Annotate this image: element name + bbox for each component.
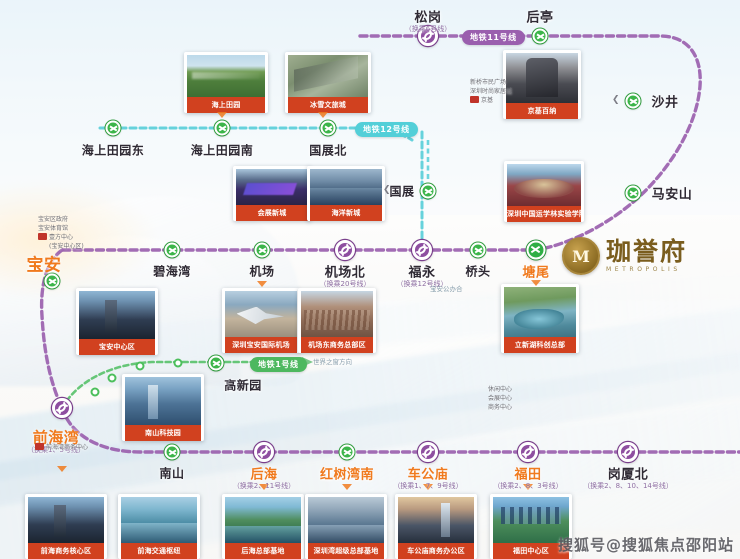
photo-caption: 前海交通枢纽 xyxy=(121,543,197,559)
photo-card[interactable]: 宝安中心区 xyxy=(76,288,158,355)
station-marker[interactable] xyxy=(45,274,60,289)
station-marker[interactable] xyxy=(618,442,638,462)
brand-name-cn: 珈誉府 xyxy=(606,239,687,265)
photo-thumbnail xyxy=(225,497,301,543)
transit-map-infographic: 海上田园冰雪文旅城京基百纳会展新城海洋新城深圳中国运学林实验学院宝安中心区深圳宝… xyxy=(0,0,740,559)
station-marker[interactable] xyxy=(209,356,224,371)
station-marker[interactable] xyxy=(421,184,436,199)
photo-thumbnail xyxy=(504,287,576,337)
station-label[interactable]: 宝安 xyxy=(27,251,62,276)
photo-caption: 会展新城 xyxy=(236,205,308,221)
photo-caption: 前海商务核心区 xyxy=(28,543,104,559)
photo-caption: 海上田园 xyxy=(187,97,265,113)
flag-icon xyxy=(38,233,47,240)
station-transfer-note: （换乘2、11号线） xyxy=(233,481,295,491)
line-1-minor-stop[interactable] xyxy=(174,359,183,368)
direction-note: 宝安公办合 xyxy=(430,283,463,293)
photo-thumbnail xyxy=(79,291,155,339)
photo-thumbnail xyxy=(225,291,297,337)
station-marker[interactable] xyxy=(626,186,641,201)
station-dot-icon xyxy=(255,243,270,258)
pointer-arrow-icon xyxy=(57,466,67,472)
photo-card[interactable]: 深圳湾超级总部基地 xyxy=(305,494,387,559)
station-marker[interactable] xyxy=(626,94,641,109)
station-dot-icon xyxy=(45,274,60,289)
station-marker[interactable] xyxy=(418,442,438,462)
photo-caption: 京基百纳 xyxy=(506,103,578,119)
station-label[interactable]: 红树湾南 xyxy=(320,464,374,483)
station-transfer-note: （换乘20号线） xyxy=(320,279,371,289)
station-label[interactable]: 沙井 xyxy=(651,92,678,111)
photo-card[interactable]: 后海总部基地 xyxy=(222,494,304,559)
station-label[interactable]: 福永 xyxy=(408,262,435,281)
photo-card[interactable]: 京基百纳 xyxy=(503,50,581,119)
station-dot-icon xyxy=(533,29,548,44)
station-transfer-note: （换乘2、8、3号线） xyxy=(493,481,562,491)
photo-card[interactable]: 机场东商务总部区 xyxy=(298,288,376,353)
photo-caption: 车公庙商务办公区 xyxy=(398,543,474,559)
flag-icon xyxy=(35,443,44,450)
station-label[interactable]: 海上田园南 xyxy=(191,142,254,159)
chevron-left-icon: ❮ xyxy=(612,95,620,105)
pointer-arrow-icon xyxy=(342,484,352,490)
brand-logo: M 珈誉府 METROPOLIS xyxy=(562,237,687,275)
station-dot-icon xyxy=(418,442,438,462)
station-label[interactable]: 南山 xyxy=(159,465,184,482)
station-dot-icon xyxy=(471,243,486,258)
photo-card[interactable]: 深圳中国运学林实验学院 xyxy=(504,161,584,222)
poi-line: 深圳时尚家居城 xyxy=(470,87,512,96)
poi-flagged-line: 京基 xyxy=(470,96,512,105)
pointer-arrow-icon xyxy=(318,112,328,118)
station-marker[interactable] xyxy=(340,445,355,460)
brand-name-en: METROPOLIS xyxy=(606,266,687,273)
station-dot-icon xyxy=(421,184,436,199)
photo-card[interactable]: 车公庙商务办公区 xyxy=(395,494,477,559)
station-marker[interactable] xyxy=(335,240,355,260)
photo-card[interactable]: 南山科技园 xyxy=(122,374,204,441)
station-dot-icon xyxy=(518,442,538,462)
line-tag[interactable]: 地铁1号线 xyxy=(250,357,307,372)
station-transfer-note: （换乘6号线） xyxy=(405,24,451,34)
poi-line: 商务中心 xyxy=(488,403,512,412)
station-marker[interactable] xyxy=(527,241,546,260)
station-marker[interactable] xyxy=(255,243,270,258)
station-label[interactable]: 后亭 xyxy=(526,7,553,26)
station-transfer-note: （换乘1、7、9号线） xyxy=(393,481,462,491)
station-label[interactable]: 国展北 xyxy=(309,142,347,159)
photo-card[interactable]: 冰雪文旅城 xyxy=(285,52,371,113)
poi-line: 会展中心 xyxy=(488,394,512,403)
photo-card[interactable]: 立新湖科创总部 xyxy=(501,284,579,353)
photo-thumbnail xyxy=(288,55,368,97)
photo-caption: 冰雪文旅城 xyxy=(288,97,368,113)
flag-icon xyxy=(470,96,479,103)
photo-caption: 海洋新城 xyxy=(310,205,382,221)
photo-thumbnail xyxy=(507,164,581,206)
photo-thumbnail xyxy=(28,497,104,543)
station-label[interactable]: 马安山 xyxy=(652,184,693,203)
poi-flagged-line: 壹方中心 xyxy=(38,233,84,242)
station-dot-icon xyxy=(321,121,336,136)
chevron-left-icon: ❮ xyxy=(383,185,391,195)
direction-note: 世界之窗方向 xyxy=(313,356,352,366)
watermark: 搜狐号@搜狐焦点邵阳站 xyxy=(558,534,734,555)
station-marker[interactable] xyxy=(412,240,432,260)
photo-caption: 后海总部基地 xyxy=(225,543,301,559)
station-label[interactable]: 后海 xyxy=(250,464,277,483)
photo-caption: 立新湖科创总部 xyxy=(504,337,576,353)
station-label[interactable]: 国展 xyxy=(389,183,414,200)
poi-flag-subtext: (宝安中心区) xyxy=(49,242,84,251)
poi-line: 休闲中心 xyxy=(488,385,512,394)
station-dot-icon xyxy=(626,94,641,109)
station-label[interactable]: 海上田园东 xyxy=(82,142,145,159)
station-dot-icon xyxy=(165,445,180,460)
brand-seal-glyph: M xyxy=(572,247,590,266)
station-label[interactable]: 塘尾 xyxy=(522,262,549,281)
poi-line: 宝安区政府 xyxy=(38,215,84,224)
photo-caption: 宝安中心区 xyxy=(79,339,155,355)
pointer-arrow-icon xyxy=(257,281,267,287)
photo-caption: 南山科技园 xyxy=(125,425,201,441)
photo-caption: 深圳中国运学林实验学院 xyxy=(507,206,581,222)
poi-flag-text: 壹方中心 xyxy=(49,234,73,241)
station-dot-icon xyxy=(165,243,180,258)
poi-flagged-line: 前海湾商务中心 xyxy=(35,443,88,452)
station-marker[interactable] xyxy=(321,121,336,136)
line-1-minor-stop[interactable] xyxy=(136,362,145,371)
photo-thumbnail xyxy=(398,497,474,543)
line-1-minor-stop[interactable] xyxy=(108,374,117,383)
photo-thumbnail xyxy=(121,497,197,543)
station-marker[interactable] xyxy=(471,243,486,258)
line-1-minor-stop[interactable] xyxy=(91,388,100,397)
line-tag[interactable]: 地铁12号线 xyxy=(355,122,418,137)
photo-thumbnail xyxy=(308,497,384,543)
station-dot-icon xyxy=(254,442,274,462)
station-marker[interactable] xyxy=(52,398,72,418)
station-dot-icon xyxy=(335,240,355,260)
photo-card[interactable]: 会展新城 xyxy=(233,166,311,221)
chevron-left-icon: ❮ xyxy=(225,379,233,389)
poi-flag-text: 前海湾商务中心 xyxy=(46,444,88,451)
station-dot-icon xyxy=(106,121,121,136)
station-label[interactable]: 车公庙 xyxy=(408,464,449,483)
station-marker[interactable] xyxy=(106,121,121,136)
photo-card[interactable]: 前海商务核心区 xyxy=(25,494,107,559)
station-marker[interactable] xyxy=(165,243,180,258)
pointer-arrow-icon xyxy=(217,112,227,118)
station-dot-icon xyxy=(215,121,230,136)
station-dot-icon xyxy=(527,241,546,260)
station-dot-icon xyxy=(209,356,224,371)
photo-thumbnail xyxy=(310,169,382,205)
station-dot-icon xyxy=(340,445,355,460)
poi-label-group: 休闲中心会展中心商务中心 xyxy=(488,385,512,412)
station-dot-icon xyxy=(52,398,72,418)
photo-card[interactable]: 海洋新城 xyxy=(307,166,385,221)
photo-caption: 深圳湾超级总部基地 xyxy=(308,543,384,559)
poi-flag-text: 京基 xyxy=(481,97,493,104)
poi-label-group: 宝安区政府宝安体育馆壹方中心(宝安中心区) xyxy=(38,215,84,251)
station-label[interactable]: 机场北 xyxy=(325,262,366,281)
station-marker[interactable] xyxy=(254,442,274,462)
photo-card[interactable]: 海上田园 xyxy=(184,52,268,113)
station-label[interactable]: 碧海湾 xyxy=(153,263,191,280)
poi-label-group: 前海湾商务中心 xyxy=(35,443,88,452)
photo-thumbnail xyxy=(301,291,373,337)
photo-card[interactable]: 深圳宝安国际机场 xyxy=(222,288,300,353)
station-label[interactable]: 福田 xyxy=(514,464,541,483)
station-transfer-note: （换乘2、8、10、14号线） xyxy=(583,481,673,491)
pointer-arrow-icon xyxy=(531,280,541,286)
station-dot-icon xyxy=(412,240,432,260)
station-label[interactable]: 桥头 xyxy=(465,263,490,280)
photo-thumbnail xyxy=(187,55,265,97)
station-marker[interactable] xyxy=(215,121,230,136)
poi-line: 新桥市民广场 xyxy=(470,78,512,87)
brand-seal-icon: M xyxy=(562,237,600,275)
line-tag[interactable]: 地铁11号线 xyxy=(462,30,525,45)
station-marker[interactable] xyxy=(518,442,538,462)
photo-card[interactable]: 前海交通枢纽 xyxy=(118,494,200,559)
poi-line: 宝安体育馆 xyxy=(38,224,84,233)
photo-caption: 机场东商务总部区 xyxy=(301,337,373,353)
station-label[interactable]: 岗厦北 xyxy=(608,464,649,483)
photo-caption: 深圳宝安国际机场 xyxy=(225,337,297,353)
station-dot-icon xyxy=(626,186,641,201)
photo-thumbnail xyxy=(236,169,308,205)
photo-thumbnail xyxy=(506,53,578,103)
station-marker[interactable] xyxy=(533,29,548,44)
station-label[interactable]: 机场 xyxy=(249,263,274,280)
station-marker[interactable] xyxy=(165,445,180,460)
station-dot-icon xyxy=(618,442,638,462)
station-label[interactable]: 松岗 xyxy=(414,7,441,26)
poi-label-group: 新桥市民广场深圳时尚家居城京基 xyxy=(470,78,512,105)
photo-thumbnail xyxy=(125,377,201,425)
